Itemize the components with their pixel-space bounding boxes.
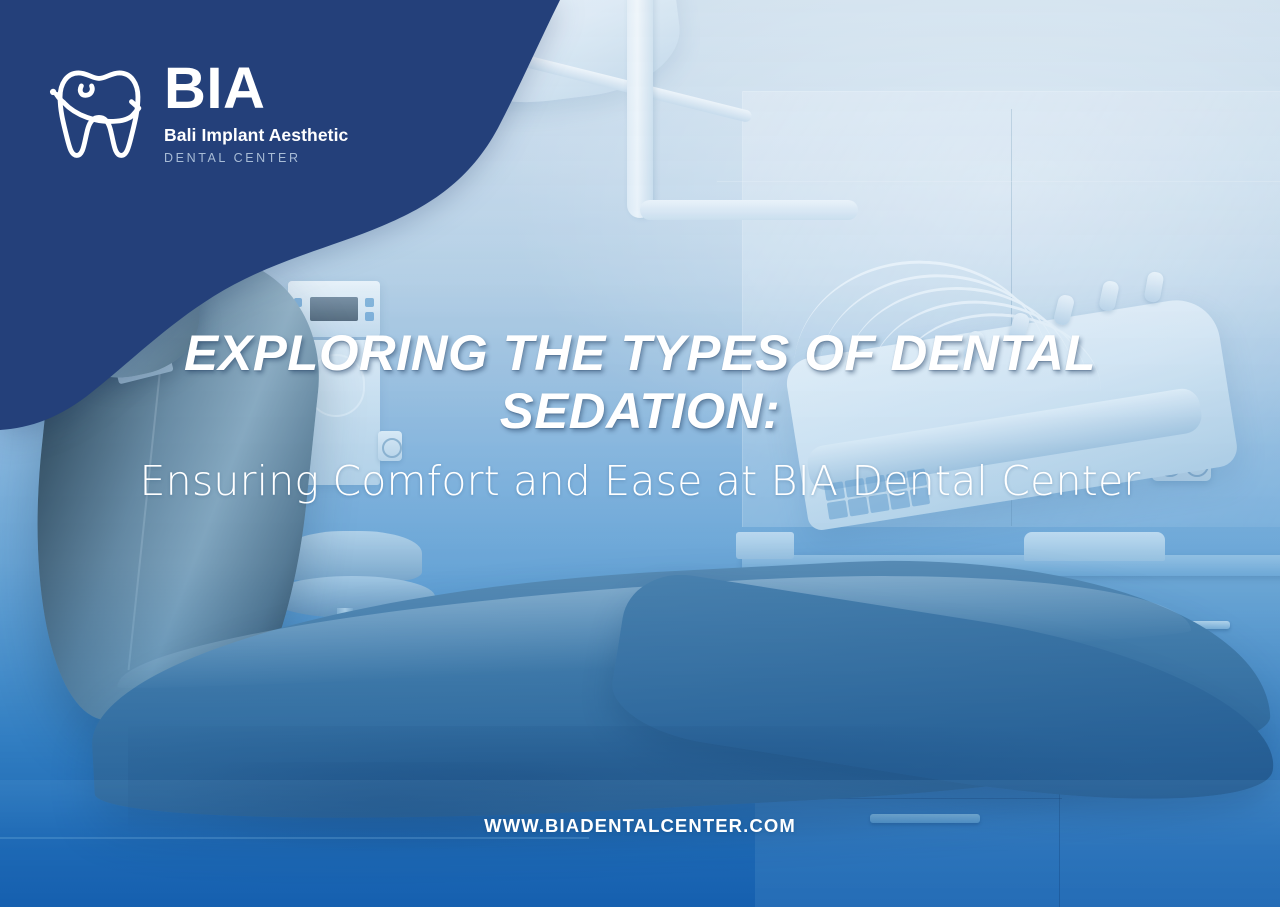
brand-tagline: Bali Implant Aesthetic [164,127,348,145]
website-url[interactable]: WWW.BIADENTALCENTER.COM [0,815,1280,837]
page-subtitle: Ensuring Comfort and Ease at BIA Dental … [64,454,1216,509]
brand-subtagline: DENTAL CENTER [164,152,348,165]
social-media-banner: BIA Bali Implant Aesthetic DENTAL CENTER… [0,0,1280,907]
tooth-icon [48,58,150,162]
logo-wordmark: BIA Bali Implant Aesthetic DENTAL CENTER [164,56,348,164]
logo[interactable]: BIA Bali Implant Aesthetic DENTAL CENTER [48,56,348,164]
brand-name: BIA [164,60,348,118]
page-title: Exploring the Types of Dental Sedation: [52,324,1227,440]
headline-block: Exploring the Types of Dental Sedation: … [0,324,1280,509]
